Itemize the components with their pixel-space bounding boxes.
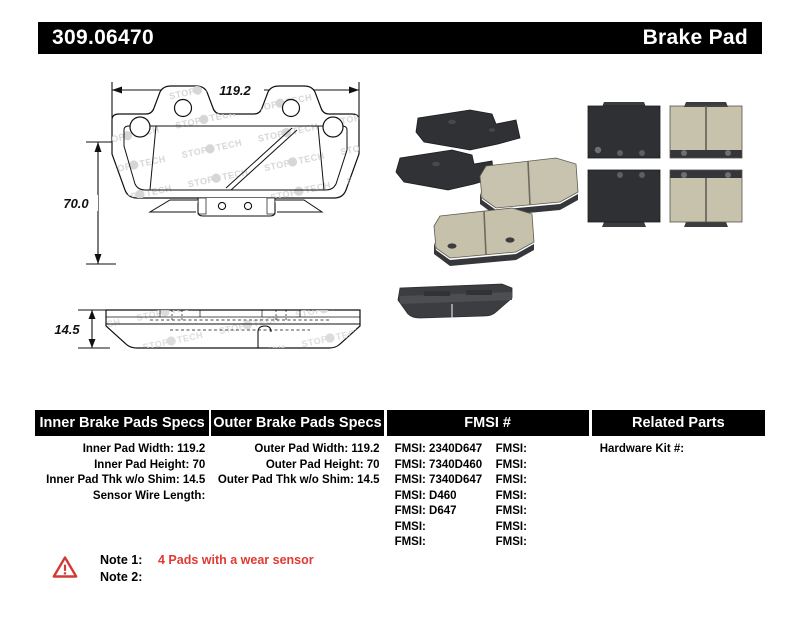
fmsi-line: FMSI: — [488, 442, 589, 458]
column-header-inner-specs: Inner Brake Pads Specs — [35, 410, 209, 436]
fmsi-line: FMSI: — [488, 458, 589, 474]
warning-triangle-icon — [52, 555, 78, 579]
fmsi-line: FMSI: D460 — [387, 489, 488, 505]
fmsi-line: FMSI: — [387, 535, 488, 551]
pad-edge-photo — [398, 284, 512, 318]
title-bar: 309.06470 Brake Pad — [38, 22, 762, 54]
spec-line: Inner Pad Height: 70 — [35, 458, 209, 474]
fmsi-line: FMSI: 2340D647 — [387, 442, 488, 458]
part-number: 309.06470 — [52, 26, 154, 50]
notes-section: Note 1: 4 Pads with a wear sensor Note 2… — [52, 552, 314, 586]
fmsi-line: FMSI: — [488, 504, 589, 520]
spec-line: Inner Pad Width: 119.2 — [35, 442, 209, 458]
note-row: Note 1: 4 Pads with a wear sensor — [100, 552, 314, 569]
thickness-dimension-label: 14.5 — [54, 322, 80, 337]
spec-line: Outer Pad Width: 119.2 — [211, 442, 383, 458]
fmsi-line: FMSI: 7340D647 — [387, 473, 488, 489]
fmsi-line: FMSI: D647 — [387, 504, 488, 520]
note-label: Note 1: — [100, 552, 152, 569]
spec-line: Outer Pad Height: 70 — [211, 458, 383, 474]
fmsi-line: FMSI: — [488, 520, 589, 536]
notes-text-block: Note 1: 4 Pads with a wear sensor Note 2… — [100, 552, 314, 586]
column-header-outer-specs: Outer Brake Pads Specs — [211, 410, 383, 436]
spec-table: Inner Brake Pads Specs Outer Brake Pads … — [35, 410, 765, 551]
fmsi-right-column: FMSI: FMSI: FMSI: FMSI: FMSI: FMSI: FMSI… — [488, 442, 589, 551]
fmsi-line: FMSI: 7340D460 — [387, 458, 488, 474]
fmsi-left-column: FMSI: 2340D647 FMSI: 7340D460 FMSI: 7340… — [387, 442, 488, 551]
note-value: 4 Pads with a wear sensor — [158, 552, 314, 569]
fmsi-line: FMSI: — [488, 535, 589, 551]
spec-line: Sensor Wire Length: — [35, 489, 209, 505]
front-face-drawing — [100, 80, 375, 216]
note-row: Note 2: — [100, 569, 314, 586]
pad-set-angled-photo — [396, 110, 578, 266]
note-label: Note 2: — [100, 569, 152, 586]
related-part-line: Hardware Kit #: — [592, 442, 765, 458]
related-parts-cell: Hardware Kit #: — [592, 442, 765, 551]
spec-table-body-row: Inner Pad Width: 119.2 Inner Pad Height:… — [35, 442, 765, 551]
column-header-fmsi: FMSI # — [387, 410, 589, 436]
product-type-label: Brake Pad — [643, 26, 748, 50]
width-dimension-label: 119.2 — [219, 83, 251, 98]
spec-table-header-row: Inner Brake Pads Specs Outer Brake Pads … — [35, 410, 765, 436]
fmsi-cell: FMSI: 2340D647 FMSI: 7340D460 FMSI: 7340… — [387, 442, 589, 551]
column-header-related-parts: Related Parts — [592, 410, 765, 436]
inner-specs-cell: Inner Pad Width: 119.2 Inner Pad Height:… — [35, 442, 209, 551]
height-dimension-label: 70.0 — [63, 196, 89, 211]
spec-line: Outer Pad Thk w/o Shim: 14.5 — [211, 473, 383, 489]
outer-specs-cell: Outer Pad Width: 119.2 Outer Pad Height:… — [211, 442, 383, 551]
drawing-area: STOP TECH 119.2 — [0, 60, 800, 390]
fmsi-line: FMSI: — [488, 473, 589, 489]
pad-set-grid-photo — [588, 102, 742, 227]
spec-line: Inner Pad Thk w/o Shim: 14.5 — [35, 473, 209, 489]
fmsi-line: FMSI: — [488, 489, 589, 505]
side-profile-drawing — [100, 304, 370, 354]
fmsi-line: FMSI: — [387, 520, 488, 536]
